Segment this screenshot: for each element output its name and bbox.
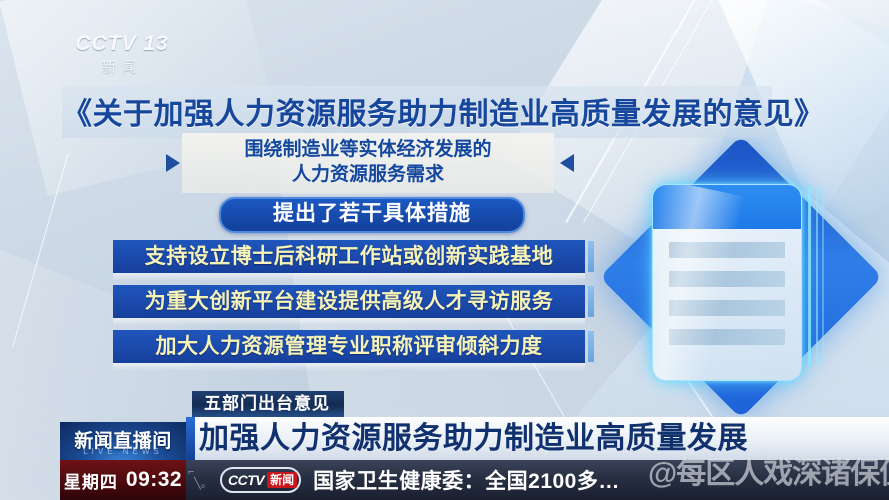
bullet-bar: 支持设立博士后科研工作站或创新实践基地 <box>113 240 585 273</box>
ticker-corner-icon: ⌐ ╲。 <box>188 466 210 490</box>
broadcast-frame: CCTV 13 新闻 《关于加强人力资源服务助力制造业高质量发展的意见》 围绕制… <box>0 0 889 500</box>
bullet-bar-shadow <box>113 363 585 371</box>
bullet-bar: 加大人力资源管理专业职称评审倾斜力度 <box>113 330 585 363</box>
lower-third-headline: 加强人力资源服务助力制造业高质量发展 <box>199 417 748 460</box>
clock-bar: 星期四 09:32 <box>60 460 186 500</box>
clock-time: 09:32 <box>126 468 182 492</box>
bullet-bar-shadow <box>113 318 585 326</box>
clock-weekday: 星期四 <box>64 468 118 493</box>
news-ticker-text: 国家卫生健康委：全国2100多… <box>313 465 620 495</box>
cctv-news-logo: CCTV 新闻 <box>220 467 301 493</box>
graphic-pill-label: 提出了若干具体措施 <box>219 197 525 233</box>
graphic-subtitle-line: 人力资源服务需求 <box>182 162 554 187</box>
news-ticker: CCTV 新闻 国家卫生健康委：全国2100多… <box>186 460 889 500</box>
bullet-bar-shadow <box>113 273 585 281</box>
lower-third-kicker: 五部门出台意见 <box>192 391 344 417</box>
graphic-subtitle-block: 围绕制造业等实体经济发展的 人力资源服务需求 <box>182 133 554 193</box>
graphic-main-title: 《关于加强人力资源服务助力制造业高质量发展的意见》 <box>62 86 772 138</box>
graphic-subtitle-line: 围绕制造业等实体经济发展的 <box>182 137 554 162</box>
cctv-news-logo-news: 新闻 <box>267 472 297 488</box>
cctv-news-logo-cctv: CCTV <box>228 472 264 488</box>
program-bug-subtitle: LIVE NEWS <box>60 447 186 456</box>
bullet-bar: 为重大创新平台建设提供高级人才寻访服务 <box>113 285 585 318</box>
triangle-left-icon <box>166 154 180 172</box>
lower-third-accent <box>186 417 195 460</box>
program-bug: 新闻直播间 LIVE NEWS <box>60 422 186 460</box>
triangle-right-icon <box>560 154 574 172</box>
